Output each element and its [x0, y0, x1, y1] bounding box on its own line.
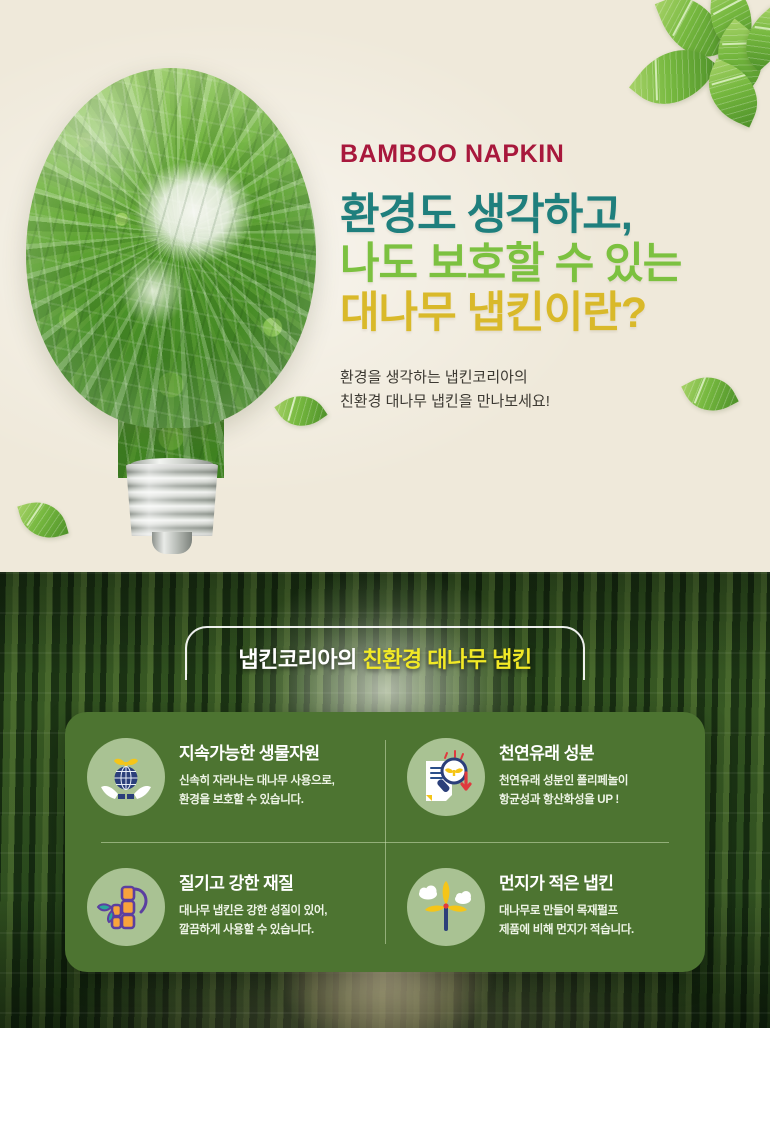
feature-title: 질기고 강한 재질 — [179, 874, 369, 894]
hero-copy: BAMBOO NAPKIN 환경도 생각하고, 나도 보호할 수 있는 대나무 … — [340, 142, 740, 414]
lightbulb-bamboo-forest-image — [26, 68, 316, 538]
feature-desc-line-1: 대나무 냅킨은 강한 성질이 있어, — [179, 902, 369, 921]
bulb-screw-base — [124, 464, 220, 556]
bamboo-canopy-photo — [26, 68, 316, 428]
bulb-glass — [26, 68, 316, 428]
feature-item: 천연유래 성분 천연유래 성분인 폴리페놀이 항균성과 항산화성을 UP ! — [385, 712, 705, 842]
feature-title: 천연유래 성분 — [499, 744, 689, 764]
panel-horizontal-divider — [101, 842, 669, 843]
hero-subtext: 환경을 생각하는 냅킨코리아의 친환경 대나무 냅킨을 만나보세요! — [340, 366, 740, 414]
feature-item: 먼지가 적은 냅킨 대나무로 만들어 목재펄프 제품에 비해 먼지가 적습니다. — [385, 842, 705, 972]
feature-item: 지속가능한 생물자원 신속히 자라나는 대나무 사용으로, 환경을 보호할 수 … — [65, 712, 385, 842]
banner-title-plain: 냅킨코리아의 — [238, 647, 356, 672]
feature-desc-line-1: 신속히 자라나는 대나무 사용으로, — [179, 772, 369, 791]
banner-title: 냅킨코리아의 친환경 대나무 냅킨 — [185, 642, 585, 674]
document-magnifier-sprout-icon — [407, 738, 485, 816]
headline-line-3: 대나무 냅킨이란? — [340, 291, 740, 336]
feature-desc-line-1: 천연유래 성분인 폴리페놀이 — [499, 772, 689, 791]
eyebrow-label: BAMBOO NAPKIN — [340, 142, 740, 167]
feature-desc-line-2: 항균성과 항산화성을 UP ! — [499, 791, 689, 810]
feature-desc-line-1: 대나무로 만들어 목재펄프 — [499, 902, 689, 921]
headline-line-1: 환경도 생각하고, — [340, 193, 740, 238]
leaf-cluster-top-right — [608, 0, 770, 146]
windmill-clouds-icon — [407, 868, 485, 946]
feature-title: 먼지가 적은 냅킨 — [499, 874, 689, 894]
page-title: 환경도 생각하고, 나도 보호할 수 있는 대나무 냅킨이란? — [340, 193, 740, 336]
headline-line-2: 나도 보호할 수 있는 — [340, 242, 740, 287]
hero-subtext-line-2: 친환경 대나무 냅킨을 만나보세요! — [340, 390, 740, 414]
hero-section: BAMBOO NAPKIN 환경도 생각하고, 나도 보호할 수 있는 대나무 … — [0, 0, 770, 572]
banner-title-highlight: 친환경 대나무 냅킨 — [362, 647, 531, 672]
feature-desc-line-2: 깔끔하게 사용할 수 있습니다. — [179, 921, 369, 940]
feature-item: 질기고 강한 재질 대나무 냅킨은 강한 성질이 있어, 깔끔하게 사용할 수 … — [65, 842, 385, 972]
page-bottom-whitespace — [0, 1028, 770, 1130]
section-banner: 냅킨코리아의 친환경 대나무 냅킨 — [185, 626, 585, 680]
bamboo-stalk-leaves-icon — [87, 868, 165, 946]
product-detail-page: BAMBOO NAPKIN 환경도 생각하고, 나도 보호할 수 있는 대나무 … — [0, 0, 770, 1130]
feature-card-panel: 지속가능한 생물자원 신속히 자라나는 대나무 사용으로, 환경을 보호할 수 … — [65, 712, 705, 972]
bamboo-feature-section: 냅킨코리아의 친환경 대나무 냅킨 — [0, 572, 770, 1028]
feature-desc-line-2: 환경을 보호할 수 있습니다. — [179, 791, 369, 810]
hero-subtext-line-1: 환경을 생각하는 냅킨코리아의 — [340, 366, 740, 390]
feature-desc-line-2: 제품에 비해 먼지가 적습니다. — [499, 921, 689, 940]
feature-title: 지속가능한 생물자원 — [179, 744, 369, 764]
globe-in-hands-with-sprout-icon — [87, 738, 165, 816]
